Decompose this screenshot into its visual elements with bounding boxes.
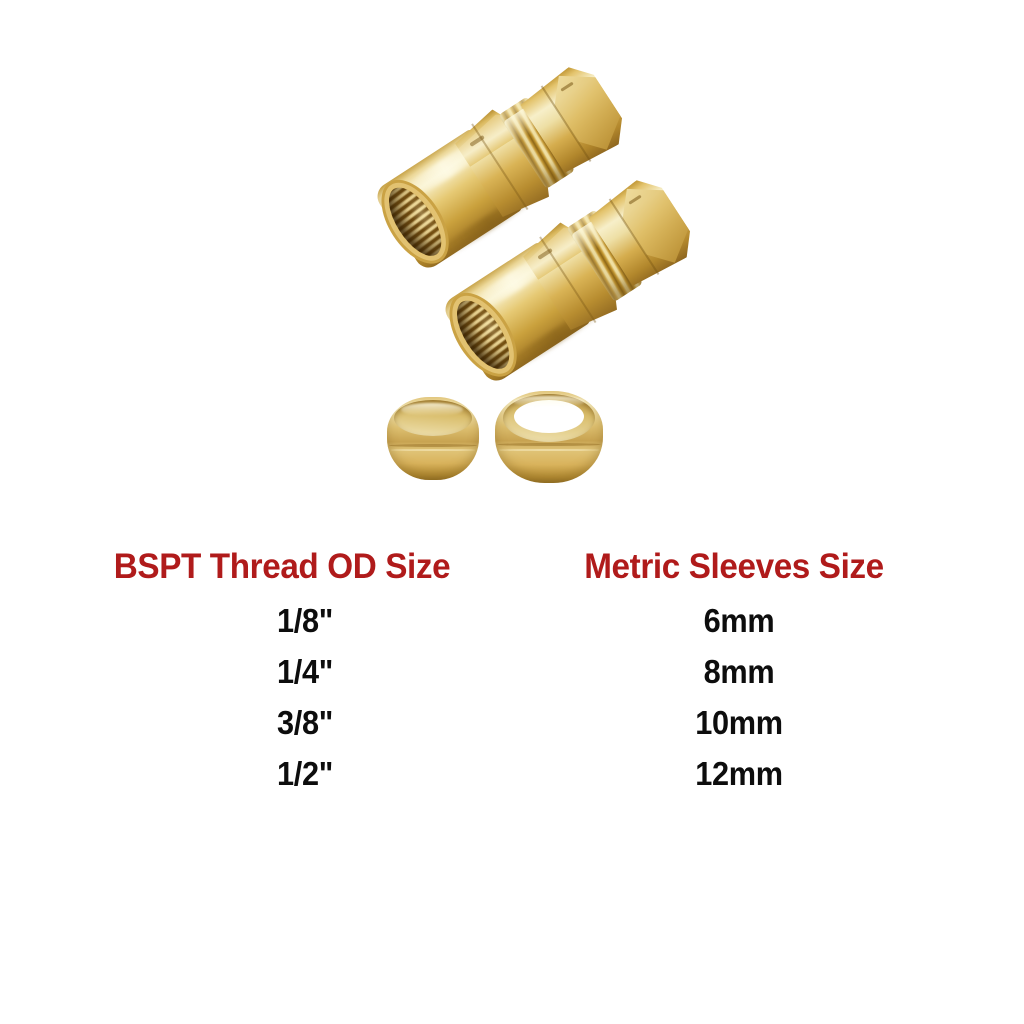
spec-value-bspt-3: 3/8" [120,697,490,748]
spec-value-bspt-4: 1/2" [120,748,490,799]
olive-rim-gloss [401,403,463,416]
spec-column-metric: Metric Sleeves Size 6mm 8mm 10mm 12mm [524,545,944,799]
spec-value-bspt-1: 1/8" [120,595,490,646]
size-specification-table: BSPT Thread OD Size 1/8" 1/4" 3/8" 1/2" … [0,545,1024,845]
spec-value-metric-1: 6mm [548,595,929,646]
spec-value-metric-3: 10mm [548,697,929,748]
spec-value-metric-4: 12mm [548,748,929,799]
spec-heading-bspt: BSPT Thread OD Size [71,545,493,589]
spec-value-bspt-2: 1/4" [120,646,490,697]
spec-value-metric-2: 8mm [548,646,929,697]
spec-heading-metric: Metric Sleeves Size [535,545,934,589]
olive-groove-light [499,449,598,451]
spec-column-bspt: BSPT Thread OD Size 1/8" 1/4" 3/8" 1/2" [60,545,504,799]
olive-sleeve-large [495,391,603,483]
olive-sleeve-small [387,397,479,480]
olive-rim-gloss [513,396,585,407]
spec-values-metric: 6mm 8mm 10mm 12mm [524,595,944,799]
product-image [0,0,1024,545]
spec-values-bspt: 1/8" 1/4" 3/8" 1/2" [60,595,504,799]
